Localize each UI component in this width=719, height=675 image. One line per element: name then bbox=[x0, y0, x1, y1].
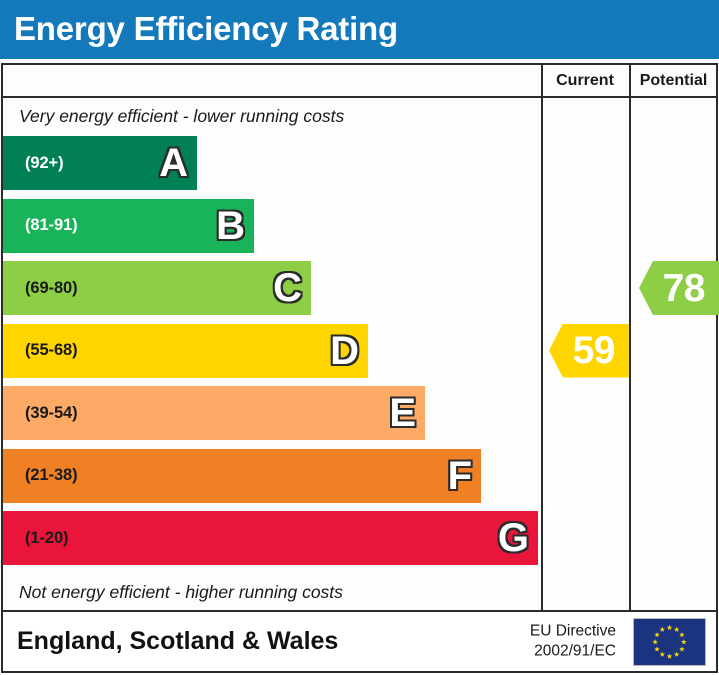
rating-marker-potential: 78 bbox=[639, 261, 719, 315]
caption-very-efficient: Very energy efficient - lower running co… bbox=[3, 98, 541, 134]
band-range-e: (39-54) bbox=[25, 404, 78, 423]
column-header-blank bbox=[3, 65, 541, 98]
footer-bar: England, Scotland & Wales EU Directive 2… bbox=[1, 612, 718, 673]
footer-region-label: England, Scotland & Wales bbox=[17, 626, 338, 655]
band-row-b: (81-91)B bbox=[3, 199, 254, 253]
footer-directive-line1: EU Directive bbox=[530, 621, 616, 641]
column-header-current: Current bbox=[541, 65, 629, 98]
rating-value-current: 59 bbox=[573, 331, 615, 370]
band-range-b: (81-91) bbox=[25, 216, 78, 235]
footer-directive: EU Directive 2002/91/EC bbox=[530, 621, 616, 662]
band-letter-d: D bbox=[330, 331, 359, 371]
band-letter-f: F bbox=[448, 456, 472, 496]
eu-flag-stars bbox=[634, 619, 705, 665]
band-range-f: (21-38) bbox=[25, 466, 78, 485]
band-row-d: (55-68)D bbox=[3, 324, 368, 378]
eu-flag-icon bbox=[633, 618, 706, 666]
caption-not-efficient: Not energy efficient - higher running co… bbox=[3, 574, 541, 610]
rating-marker-current: 59 bbox=[549, 324, 629, 378]
band-letter-c: C bbox=[273, 268, 302, 308]
band-letter-g: G bbox=[498, 518, 529, 558]
column-header-potential: Potential bbox=[631, 65, 716, 98]
band-row-a: (92+)A bbox=[3, 136, 197, 190]
band-row-g: (1-20)G bbox=[3, 511, 538, 565]
band-row-f: (21-38)F bbox=[3, 449, 481, 503]
band-range-d: (55-68) bbox=[25, 341, 78, 360]
chart-title-bar: Energy Efficiency Rating bbox=[0, 0, 719, 59]
footer-directive-line2: 2002/91/EC bbox=[530, 642, 616, 662]
band-row-c: (69-80)C bbox=[3, 261, 311, 315]
band-range-c: (69-80) bbox=[25, 279, 78, 298]
band-range-g: (1-20) bbox=[25, 529, 68, 548]
band-range-a: (92+) bbox=[25, 154, 63, 173]
band-letter-e: E bbox=[389, 393, 416, 433]
energy-efficiency-rating-chart: Energy Efficiency Rating Current Potenti… bbox=[0, 0, 719, 675]
band-list: (92+)A(81-91)B(69-80)C(55-68)D(39-54)E(2… bbox=[3, 136, 541, 576]
divider-potential-column bbox=[629, 65, 631, 610]
page-title: Energy Efficiency Rating bbox=[14, 10, 398, 48]
band-row-e: (39-54)E bbox=[3, 386, 425, 440]
divider-current-column bbox=[541, 65, 543, 610]
band-letter-b: B bbox=[216, 206, 245, 246]
band-letter-a: A bbox=[159, 143, 188, 183]
rating-value-potential: 78 bbox=[663, 269, 705, 308]
rating-grid: Current Potential Very energy efficient … bbox=[1, 63, 718, 612]
